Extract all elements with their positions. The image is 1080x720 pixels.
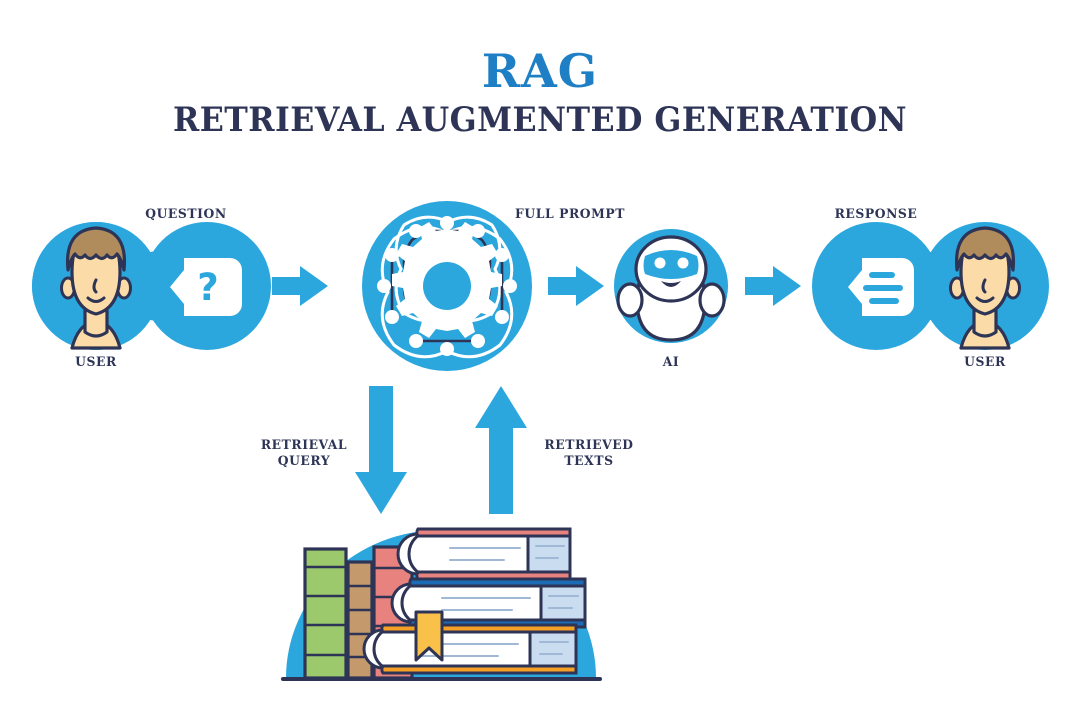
bubble-line-2: [863, 285, 903, 291]
ai-robot-group: [614, 229, 728, 343]
arrow-retrieved-texts: [475, 386, 527, 514]
arrow-question-to-engine: [272, 266, 328, 306]
arrow-engine-to-ai: [548, 266, 604, 306]
response-user-group: [812, 222, 1049, 350]
bubble-line-1: [869, 272, 895, 278]
label-user-right: USER: [928, 355, 1042, 371]
label-response: RESPONSE: [815, 207, 937, 223]
book-stack-icon: [283, 529, 600, 679]
user-question-group: ?: [32, 222, 271, 350]
label-user-left: USER: [39, 355, 153, 371]
diagram-canvas: RAG RETRIEVAL AUGMENTED GENERATION: [0, 0, 1080, 720]
bubble-line-3: [869, 298, 899, 304]
label-question: QUESTION: [129, 207, 243, 223]
question-mark-text: ?: [197, 266, 218, 309]
stacked-book-red: [398, 529, 570, 579]
label-retrieved-texts: RETRIEVED TEXTS: [525, 438, 652, 471]
diagram-artwork: ?: [0, 0, 1080, 720]
label-ai: AI: [633, 355, 709, 371]
label-full-prompt: FULL PROMPT: [502, 207, 639, 223]
arrow-ai-to-response: [745, 266, 801, 306]
stacked-book-orange: [364, 625, 576, 673]
label-retrieval-query: RETRIEVAL QUERY: [241, 438, 366, 471]
rag-engine-group: [362, 201, 532, 371]
